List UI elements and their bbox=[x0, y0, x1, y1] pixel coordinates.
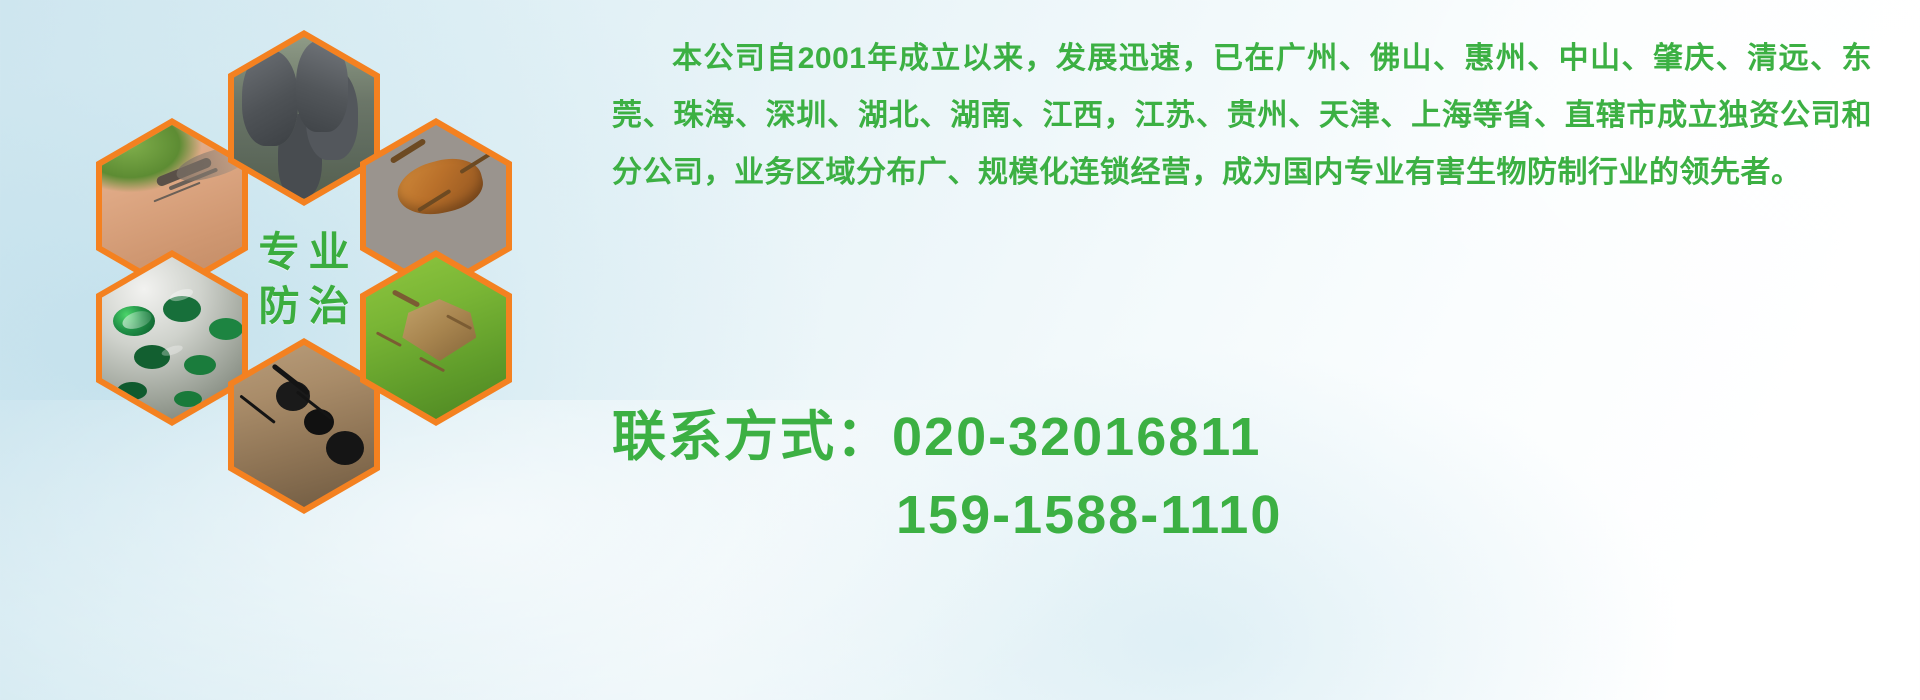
badge-label: 专业 防治 bbox=[224, 186, 384, 372]
stinkbug-photo bbox=[366, 257, 506, 419]
hex-inner-flies bbox=[102, 257, 242, 419]
contact-block: 联系方式：020-32016811 159-1588-1110 bbox=[612, 398, 1902, 554]
hex-inner-rodent bbox=[234, 37, 374, 199]
badge-label-line-1: 专业 bbox=[250, 230, 359, 274]
flies-photo bbox=[102, 257, 242, 419]
company-intro-paragraph: 本公司自2001年成立以来，发展迅速，已在广州、佛山、惠州、中山、肇庆、清远、东… bbox=[612, 30, 1872, 201]
hexagon-photo-cluster: 专业 防治 bbox=[96, 6, 596, 566]
hex-cell-rodent bbox=[228, 30, 380, 206]
contact-phone-primary[interactable]: 联系方式：020-32016811 bbox=[612, 398, 1902, 476]
contact-phone-secondary[interactable]: 159-1588-1110 bbox=[612, 476, 1902, 554]
rodent-photo bbox=[234, 37, 374, 199]
hex-inner-stinkbug bbox=[366, 257, 506, 419]
badge-label-line-2: 防治 bbox=[250, 284, 359, 328]
company-intro-block: 本公司自2001年成立以来，发展迅速，已在广州、佛山、惠州、中山、肇庆、清远、东… bbox=[612, 30, 1902, 201]
